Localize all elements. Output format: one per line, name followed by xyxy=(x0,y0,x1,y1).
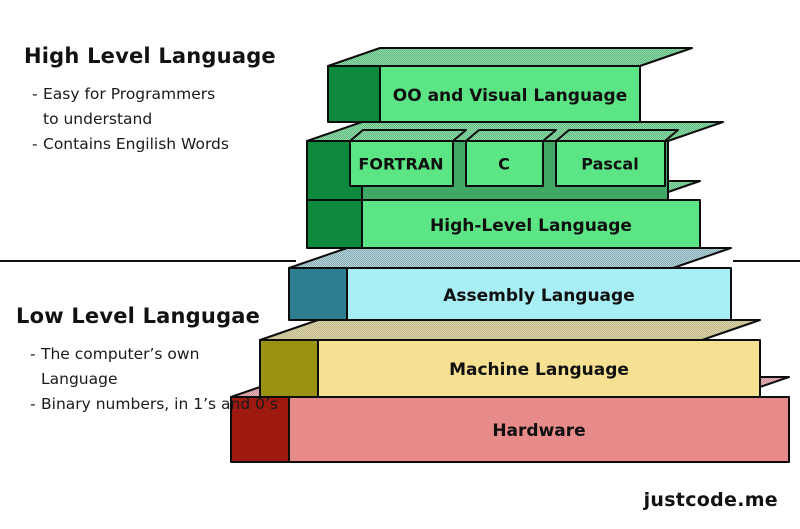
fortran-label: FORTRAN xyxy=(358,155,443,174)
high-level-bullet-0: -Easy for Programmers xyxy=(32,82,300,107)
low-level-bullet-0: -The computer’s own xyxy=(30,342,300,367)
low-level-bullet-list: -The computer’s own Language -Binary num… xyxy=(0,342,300,417)
hardware-label: Hardware xyxy=(492,421,585,441)
oo-visual-label: OO and Visual Language xyxy=(393,86,627,106)
oo-visual-top-bevel xyxy=(328,48,692,66)
bullet-text: Easy for Programmers xyxy=(43,85,215,103)
pascal-top-bevel xyxy=(556,130,678,141)
language-block-c: C xyxy=(466,130,556,186)
high-level-label: High-Level Language xyxy=(430,216,632,236)
high-level-language-section: High Level Language -Easy for Programmer… xyxy=(0,44,300,157)
high-level-bullet-2: -Contains Engilish Words xyxy=(32,132,300,157)
low-level-bullet-1: Language xyxy=(30,367,300,392)
machine-label: Machine Language xyxy=(449,360,629,380)
level-divider-left xyxy=(0,260,296,262)
low-level-bullet-2: -Binary numbers, in 1’s and 0’s xyxy=(30,392,300,417)
c-label: C xyxy=(498,155,510,174)
language-block-pascal: Pascal xyxy=(556,130,678,186)
bullet-text: Language xyxy=(41,370,118,388)
bullet-text: to understand xyxy=(43,110,152,128)
low-level-section-title: Low Level Langugae xyxy=(0,304,300,328)
c-top-bevel xyxy=(466,130,556,141)
high-level-side-face xyxy=(307,200,362,248)
bullet-dash: - xyxy=(30,342,41,367)
high-level-bullet-list: -Easy for Programmers to understand -Con… xyxy=(0,82,300,157)
bullet-dash: - xyxy=(30,392,41,417)
site-watermark: justcode.me xyxy=(644,489,778,511)
pyramid-layer-language-row: FORTRAN C Pascal xyxy=(307,122,723,200)
assembly-label: Assembly Language xyxy=(443,286,634,306)
level-divider-right xyxy=(733,260,800,262)
bullet-text: Binary numbers, in 1’s and 0’s xyxy=(41,395,278,413)
pascal-label: Pascal xyxy=(581,155,638,174)
pyramid-layer-assembly: Assembly Language xyxy=(289,248,731,320)
bullet-text: The computer’s own xyxy=(41,345,199,363)
bullet-dash: - xyxy=(32,82,43,107)
high-level-section-title: High Level Language xyxy=(0,44,300,68)
high-level-bullet-1: to understand xyxy=(32,107,300,132)
fortran-top-bevel xyxy=(350,130,466,141)
assembly-top-bevel xyxy=(289,248,731,268)
machine-top-bevel xyxy=(260,320,760,340)
bullet-dash: - xyxy=(32,132,43,157)
pyramid-layer-machine: Machine Language xyxy=(260,320,760,397)
oo-visual-side-face xyxy=(328,66,380,122)
language-block-fortran: FORTRAN xyxy=(350,130,466,186)
bullet-text: Contains Engilish Words xyxy=(43,135,229,153)
low-level-language-section: Low Level Langugae -The computer’s own L… xyxy=(0,304,300,417)
pyramid-layer-oo-visual: OO and Visual Language xyxy=(328,48,692,122)
